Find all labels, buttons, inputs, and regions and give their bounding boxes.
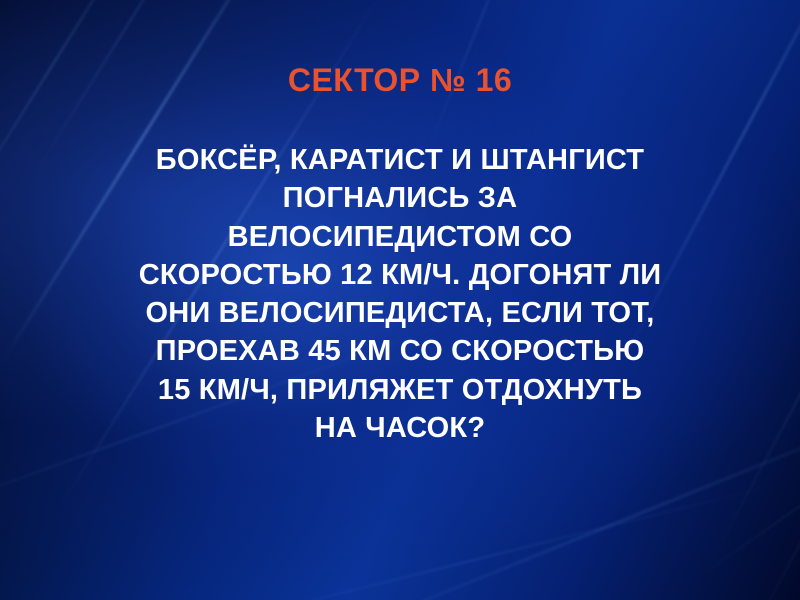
question-line: ОНИ ВЕЛОСИПЕДИСТА, ЕСЛИ ТОТ, bbox=[30, 294, 770, 332]
question-line: ВЕЛОСИПЕДИСТОМ СО bbox=[30, 218, 770, 256]
question-line: НА ЧАСОК? bbox=[30, 409, 770, 447]
question-line: СКОРОСТЬЮ 12 КМ/Ч. ДОГОНЯТ ЛИ bbox=[30, 256, 770, 294]
question-line: ПРОЕХАВ 45 КМ СО СКОРОСТЬЮ bbox=[30, 332, 770, 370]
slide-question-text: БОКСЁР, КАРАТИСТ И ШТАНГИСТ ПОГНАЛИСЬ ЗА… bbox=[30, 141, 770, 447]
presentation-slide: СЕКТОР № 16 БОКСЁР, КАРАТИСТ И ШТАНГИСТ … bbox=[0, 0, 800, 600]
question-line: 15 КМ/Ч, ПРИЛЯЖЕТ ОТДОХНУТЬ bbox=[30, 371, 770, 409]
question-line: ПОГНАЛИСЬ ЗА bbox=[30, 179, 770, 217]
question-line: БОКСЁР, КАРАТИСТ И ШТАНГИСТ bbox=[30, 141, 770, 179]
slide-content: СЕКТОР № 16 БОКСЁР, КАРАТИСТ И ШТАНГИСТ … bbox=[0, 0, 800, 600]
slide-title: СЕКТОР № 16 bbox=[288, 62, 512, 99]
